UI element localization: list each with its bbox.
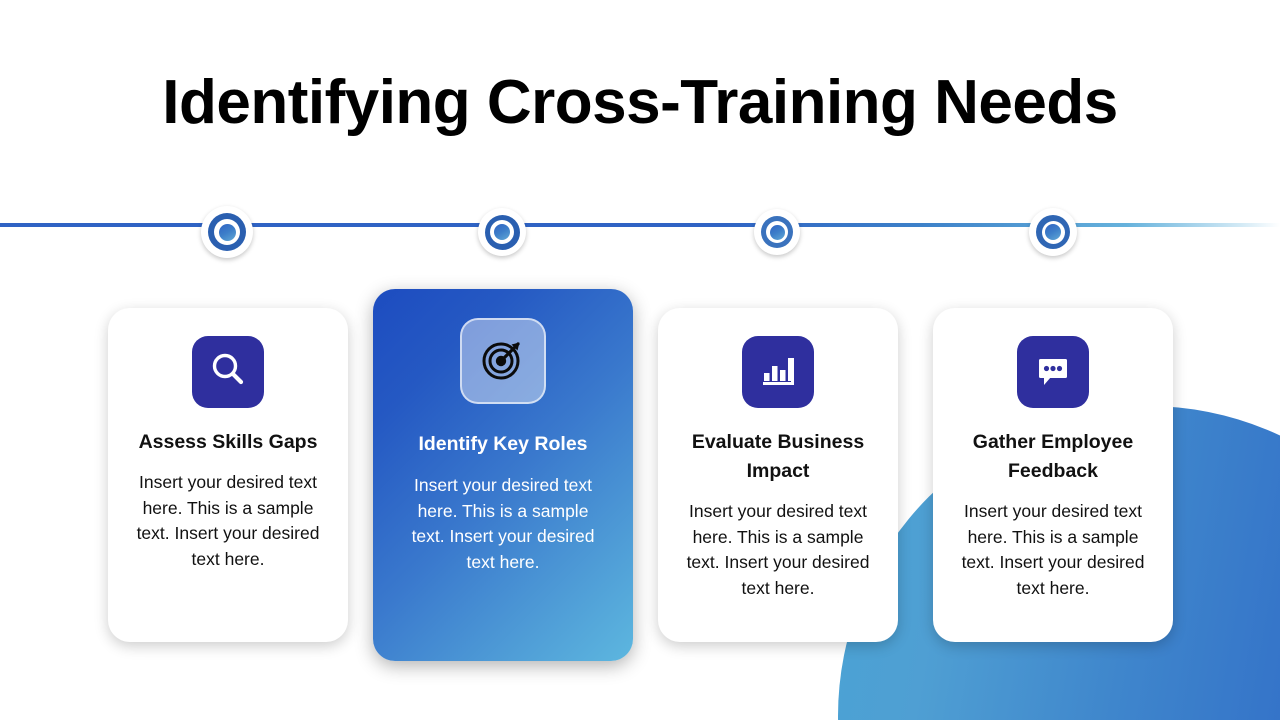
node-ring-outer [208,213,246,251]
step-card-identify-key-roles[interactable]: Identify Key Roles Insert your desired t… [373,289,633,661]
timeline-node-1[interactable] [201,206,253,258]
node-core [770,225,785,240]
card-body: Insert your desired text here. This is a… [108,470,348,572]
target-icon [480,336,526,387]
timeline-line [0,223,1280,227]
node-ring-inner [490,220,514,244]
timeline-node-3[interactable] [754,209,800,255]
card-body: Insert your desired text here. This is a… [373,473,633,575]
step-card-gather-employee-feedback[interactable]: Gather Employee Feedback Insert your des… [933,308,1173,642]
node-ring-outer [1036,215,1070,249]
card-title: Gather Employee Feedback [933,428,1173,486]
icon-tile [1017,336,1089,408]
step-card-evaluate-business-impact[interactable]: Evaluate Business Impact Insert your des… [658,308,898,642]
timeline [0,208,1280,278]
icon-tile [460,318,546,404]
chat-bubble-icon [1032,349,1074,396]
icon-tile [742,336,814,408]
node-ring-inner [214,219,240,245]
node-core [1045,224,1061,240]
bar-chart-icon [757,349,799,396]
node-ring-outer [761,216,793,248]
page-title: Identifying Cross-Training Needs [0,62,1280,144]
timeline-node-2[interactable] [478,208,526,256]
slide-canvas: Identifying Cross-Training Needs [0,0,1280,720]
node-ring-outer [485,215,520,250]
card-title: Evaluate Business Impact [658,428,898,486]
timeline-node-4[interactable] [1029,208,1077,256]
node-core [494,224,510,240]
node-core [219,224,236,241]
node-ring-inner [1042,221,1065,244]
card-title: Identify Key Roles [410,430,595,459]
card-title: Assess Skills Gaps [131,428,326,457]
magnifier-icon [207,349,249,396]
node-ring-inner [766,221,788,243]
step-card-assess-skills-gaps[interactable]: Assess Skills Gaps Insert your desired t… [108,308,348,642]
icon-tile [192,336,264,408]
card-body: Insert your desired text here. This is a… [933,499,1173,601]
card-body: Insert your desired text here. This is a… [658,499,898,601]
